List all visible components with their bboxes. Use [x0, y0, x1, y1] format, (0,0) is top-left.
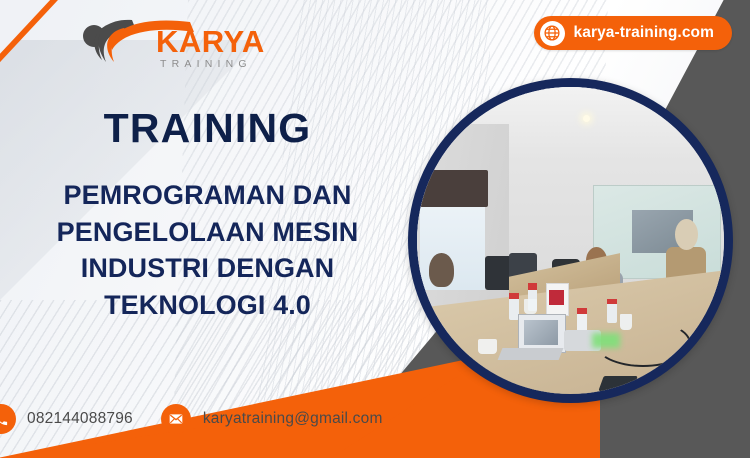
- title-line-2: PENGELOLAAN MESIN: [0, 214, 415, 251]
- phone-icon[interactable]: [0, 404, 16, 434]
- email-address[interactable]: karyatraining@gmail.com: [203, 410, 383, 428]
- svg-text:TRAINING: TRAINING: [160, 58, 252, 70]
- contact-bar: 082144088796 karyatraining@gmail.com: [0, 402, 420, 436]
- globe-icon: [540, 21, 565, 46]
- phone-number[interactable]: 082144088796: [27, 410, 133, 428]
- svg-text:KARYA: KARYA: [156, 24, 265, 59]
- headline-block: TRAINING PEMROGRAMAN DAN PENGELOLAAN MES…: [0, 108, 415, 324]
- title-line-1: PEMROGRAMAN DAN: [0, 177, 415, 214]
- website-badge[interactable]: karya-training.com: [534, 16, 732, 50]
- envelope-icon[interactable]: [161, 404, 191, 434]
- page-title: PEMROGRAMAN DAN PENGELOLAAN MESIN INDUST…: [0, 177, 415, 324]
- training-room-photo: [417, 87, 724, 394]
- title-line-3: INDUSTRI DENGAN: [0, 250, 415, 287]
- title-line-4: TEKNOLOGI 4.0: [0, 287, 415, 324]
- photo-ring: [408, 78, 733, 403]
- kicker-training: TRAINING: [0, 108, 415, 149]
- training-poster: KARYA TRAINING karya-training.com TRAINI…: [0, 0, 750, 458]
- karya-logo[interactable]: KARYA TRAINING: [72, 12, 282, 74]
- karya-swoosh-icon: KARYA TRAINING: [72, 12, 282, 74]
- website-url: karya-training.com: [574, 24, 714, 42]
